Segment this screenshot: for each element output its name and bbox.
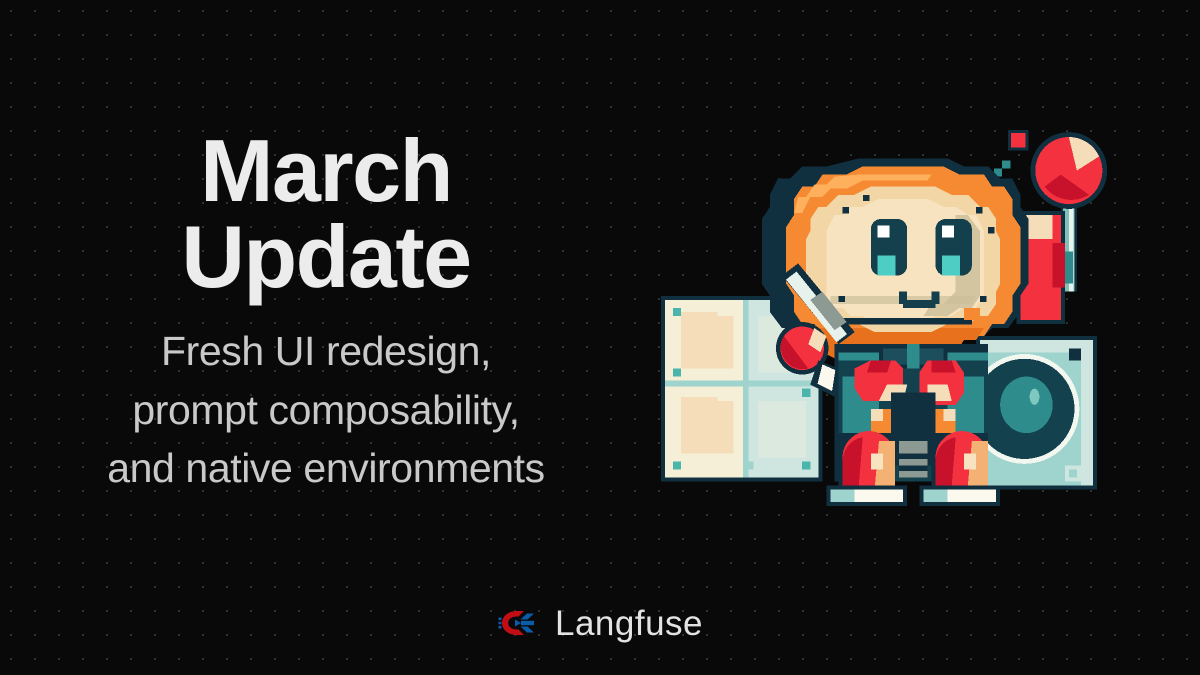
subtitle-line-3: and native environments	[0, 439, 652, 497]
page-subtitle: Fresh UI redesign, prompt composability,…	[0, 322, 652, 497]
subtitle-line-1: Fresh UI redesign,	[0, 322, 652, 380]
banner-canvas: March Update Fresh UI redesign, prompt c…	[0, 0, 1200, 675]
subtitle-line-2: prompt composability,	[0, 381, 652, 439]
page-title: March Update	[0, 128, 652, 300]
brand-footer: Langfuse	[0, 602, 1200, 644]
headline-line-1: March	[0, 128, 652, 214]
brand-wordmark: Langfuse	[555, 606, 703, 641]
text-column: March Update Fresh UI redesign, prompt c…	[0, 128, 652, 497]
headline-line-2: Update	[0, 214, 652, 300]
pixel-art-robot-illustration	[640, 118, 1126, 522]
langfuse-logo-icon	[497, 602, 539, 644]
speaker-panel-art	[972, 336, 1097, 490]
